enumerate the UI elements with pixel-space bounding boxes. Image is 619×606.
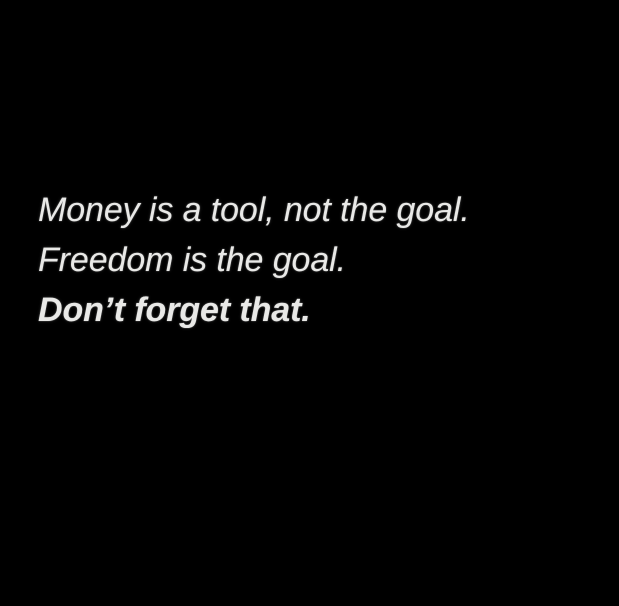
quote-line-3: Don’t forget that. (38, 285, 578, 335)
quote-card: Money is a tool, not the goal. Freedom i… (0, 0, 619, 606)
quote-line-2: Freedom is the goal. (38, 235, 578, 285)
quote-text-block: Money is a tool, not the goal. Freedom i… (38, 185, 578, 335)
quote-line-1: Money is a tool, not the goal. (38, 185, 578, 235)
